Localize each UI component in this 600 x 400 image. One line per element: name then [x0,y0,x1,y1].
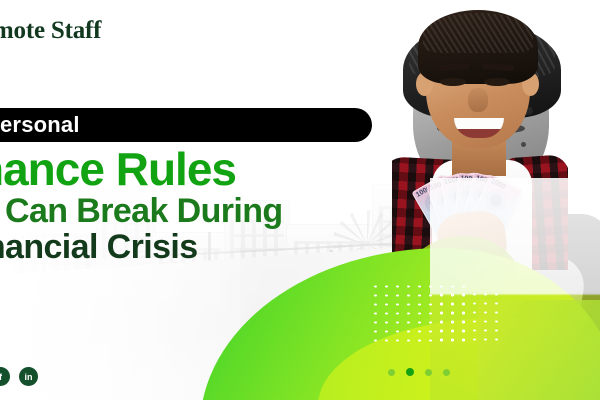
carousel-dot-1[interactable] [388,369,395,376]
hero-banner-slide: 1000 1000 1000 1000 1000 1000 emote Sta [0,0,600,400]
hair [418,10,538,84]
facebook-icon[interactable]: f [0,367,10,386]
remote-staff-logo[interactable]: emote Staff [0,17,101,45]
eye [440,78,466,86]
linkedin-icon[interactable]: in [19,367,38,386]
eyebrow-label: ersonal [0,112,80,138]
eyebrow-pill-badge: ersonal [0,108,372,142]
dot-grid-pattern-secondary [434,288,498,346]
headline-line-1: nance Rules [0,142,236,196]
eye [484,78,510,86]
social-links: f in [0,367,38,386]
nose [468,88,488,112]
teeth [454,118,504,129]
headline-line-2: u Can Break During [0,192,283,231]
headline-line-3: inancial Crisis [0,228,198,267]
carousel-dot-3[interactable] [425,369,432,376]
carousel-pagination [388,368,450,376]
carousel-dot-2[interactable] [406,368,414,376]
carousel-dot-4[interactable] [443,369,450,376]
